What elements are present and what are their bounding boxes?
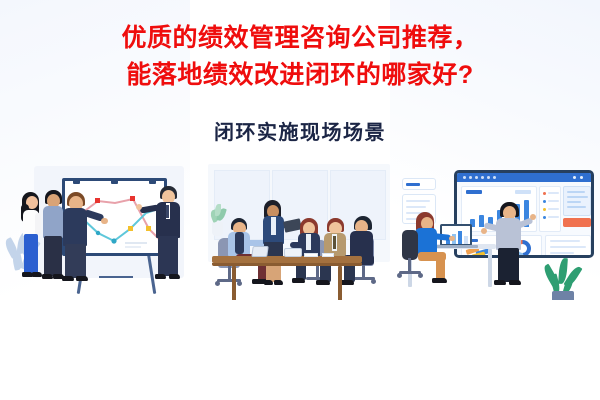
screen-titlebar	[457, 173, 591, 182]
illustration-band	[0, 160, 600, 315]
poster-root: 优质的绩效管理咨询公司推荐， 能落地绩效改进闭环的哪家好? 闭环实施现场场景	[0, 0, 600, 400]
list-card	[539, 186, 561, 232]
laptop-icon	[251, 246, 269, 257]
laptop-icon	[284, 248, 302, 257]
headline-line-2: 能落地绩效改进闭环的哪家好?	[0, 57, 600, 94]
detail-panel	[563, 186, 591, 216]
panel-whiteboard-presentation	[0, 160, 200, 315]
subtitle: 闭环实施现场场景	[0, 118, 600, 148]
headline: 优质的绩效管理咨询公司推荐， 能落地绩效改进闭环的哪家好?	[0, 20, 600, 94]
office-chair	[402, 230, 418, 260]
panel-dashboard-review	[396, 160, 600, 315]
easel-crossbar	[99, 276, 133, 278]
meeting-table	[212, 256, 362, 263]
cta-button[interactable]	[563, 218, 591, 227]
paper-icon	[304, 253, 318, 257]
paper-icon	[322, 253, 334, 257]
bottom-whitespace	[0, 300, 600, 400]
panel-meeting-table	[192, 160, 404, 315]
headline-line-1: 优质的绩效管理咨询公司推荐，	[0, 20, 600, 57]
table-card	[545, 235, 591, 258]
floating-card	[402, 178, 436, 190]
